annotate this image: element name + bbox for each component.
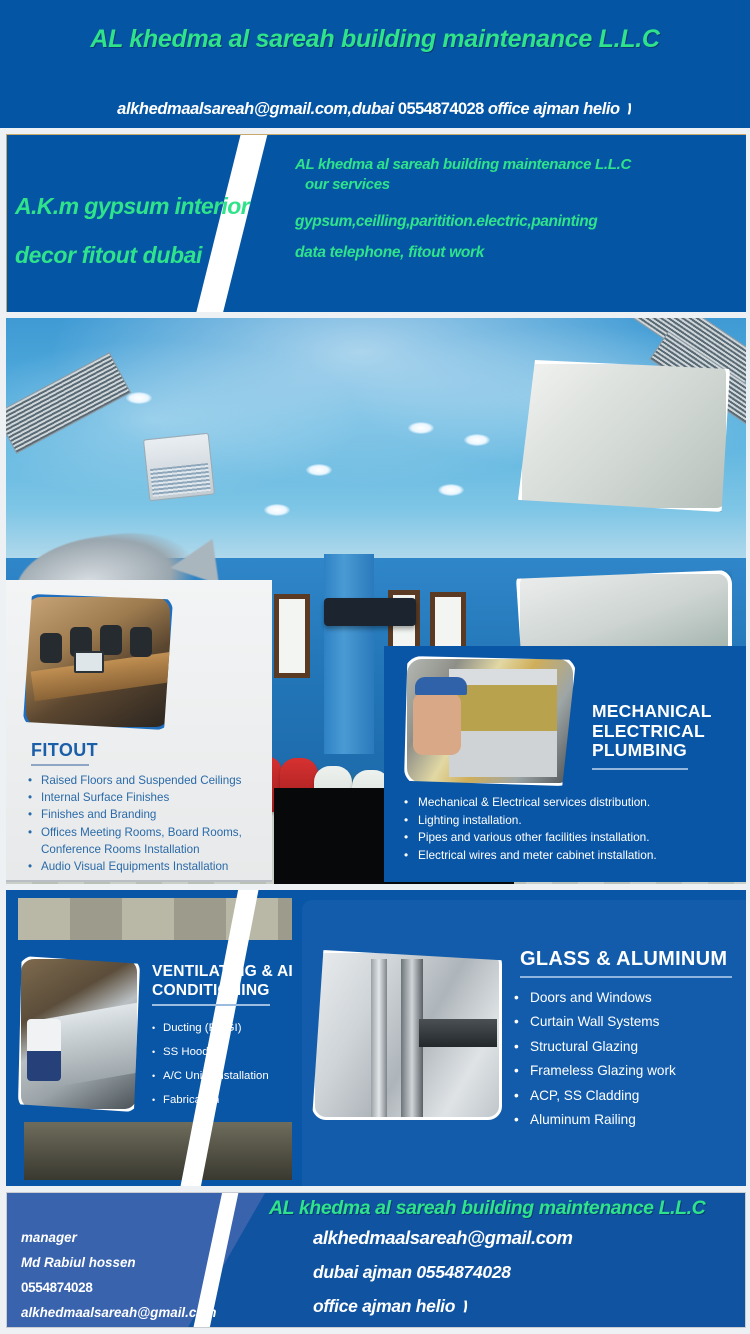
- downlight-icon: [306, 464, 332, 476]
- list-item: Lighting installation.: [404, 812, 746, 830]
- list-item: Offices Meeting Rooms, Board Rooms, Conf…: [28, 824, 272, 858]
- table-icon: [324, 598, 416, 626]
- inset-photo-lounge: [518, 360, 730, 512]
- footer-email: alkhedmaalsareah@gmail.com: [21, 1300, 283, 1325]
- curtain-wall-mullion: [371, 959, 387, 1119]
- title-underline: [152, 1004, 270, 1006]
- footer-company-title: AL khedma al sareah building maintenance…: [269, 1197, 746, 1220]
- list-item: Aluminum Railing: [514, 1108, 744, 1132]
- downlight-icon: [464, 434, 490, 446]
- duct-background-top: [18, 898, 312, 940]
- brand-line-2: decor fitout dubai: [15, 242, 277, 269]
- title-underline: [31, 764, 89, 766]
- flyer-poster: AL khedma al sareah building maintenance…: [0, 0, 750, 1334]
- list-item: Finishes and Branding: [28, 806, 272, 823]
- card-glass-aluminum: GLASS & ALUMINUM Doors and Windows Curta…: [292, 890, 746, 1186]
- list-item: SS Hood: [152, 1040, 308, 1064]
- fitout-title: FITOUT: [31, 740, 98, 761]
- technician-figure: [413, 693, 461, 755]
- laptop-icon: [74, 651, 104, 673]
- hvac-photo: [18, 956, 140, 1112]
- glass-service-list: Doors and Windows Curtain Wall Systems S…: [514, 986, 744, 1132]
- worker-figure: [27, 1019, 61, 1081]
- list-item: Pipes and various other facilities insta…: [404, 829, 746, 847]
- list-item: Curtain Wall Systems: [514, 1010, 744, 1034]
- list-item: Frameless Glazing work: [514, 1059, 744, 1083]
- footer-detail-office: office ajman helio ١: [313, 1296, 743, 1317]
- list-item: Internal Surface Finishes: [28, 789, 272, 806]
- list-item: Fabrication: [152, 1088, 308, 1112]
- title-underline: [520, 976, 732, 978]
- wall-ac-unit: [143, 433, 215, 502]
- cap-icon: [415, 677, 467, 695]
- services-brand-block: A.K.m gypsum interior decor fitout dubai: [15, 195, 277, 269]
- list-item: Audio Visual Equipments Installation: [28, 858, 272, 875]
- header-email: alkhedmaalsareah@gmail.com,dubai: [117, 100, 394, 118]
- list-item: Electrical wires and meter cabinet insta…: [404, 847, 746, 865]
- list-item: ACP, SS Cladding: [514, 1084, 744, 1108]
- footer-contact-block: manager Md Rabiul hossen 0554874028 alkh…: [21, 1225, 283, 1325]
- list-item: A/C Units Installation: [152, 1064, 308, 1088]
- header-phone: 0554874028: [398, 100, 484, 118]
- services-band: A.K.m gypsum interior decor fitout dubai…: [6, 134, 746, 312]
- title-underline: [592, 768, 688, 770]
- mep-service-list: Mechanical & Electrical services distrib…: [404, 794, 746, 864]
- services-line-4: data telephone, fitout work: [295, 244, 743, 262]
- hvac-title: VENTILATING & AIR CONDITIONING: [152, 962, 312, 1000]
- brand-line-1: A.K.m gypsum interior: [15, 195, 277, 218]
- footer-band: manager Md Rabiul hossen 0554874028 alkh…: [6, 1192, 746, 1328]
- list-item: Mechanical & Electrical services distrib…: [404, 794, 746, 812]
- header-band: AL khedma al sareah building maintenance…: [0, 0, 750, 128]
- fitout-photo: [23, 594, 173, 730]
- downlight-icon: [126, 392, 152, 404]
- list-item: Raised Floors and Suspended Ceilings: [28, 772, 272, 789]
- card-mechanical-electrical-plumbing: MECHANICAL ELECTRICAL PLUMBING Mechanica…: [384, 646, 746, 882]
- footer-role: manager: [21, 1225, 283, 1250]
- services-heading: our services: [305, 175, 743, 195]
- footer-details-block: alkhedmaalsareah@gmail.com dubai ajman 0…: [313, 1227, 743, 1317]
- header-contact-line: alkhedmaalsareah@gmail.com,dubai 0554874…: [0, 99, 750, 119]
- mep-photo: [404, 656, 576, 786]
- footer-phone: 0554874028: [21, 1275, 283, 1300]
- list-item: Structural Glazing: [514, 1035, 744, 1059]
- office-chair-icon: [40, 633, 62, 663]
- fitout-service-list: Raised Floors and Suspended Ceilings Int…: [28, 772, 272, 875]
- list-item: Doors and Windows: [514, 986, 744, 1010]
- company-title: AL khedma al sareah building maintenance…: [0, 25, 750, 54]
- glass-photo: [312, 950, 502, 1120]
- services-company: AL khedma al sareah building maintenance…: [295, 155, 743, 175]
- card-ventilating-air-conditioning: VENTILATING & AIR CONDITIONING Ducting (…: [6, 890, 312, 1186]
- aluminum-bracket: [419, 1019, 497, 1047]
- services-line-3: gypsum,ceilling,paritition.electric,pani…: [295, 213, 743, 231]
- hvac-service-list: Ducting (PI, GI) SS Hood A/C Units Insta…: [152, 1016, 308, 1112]
- footer-detail-phone: dubai ajman 0554874028: [313, 1262, 743, 1283]
- footer-name: Md Rabiul hossen: [21, 1250, 283, 1275]
- list-item: Ducting (PI, GI): [152, 1016, 308, 1040]
- glass-title: GLASS & ALUMINUM: [520, 948, 727, 971]
- card-fitout: FITOUT Raised Floors and Suspended Ceili…: [6, 580, 272, 882]
- duct-background-bottom: [24, 1122, 312, 1180]
- downlight-icon: [438, 484, 464, 496]
- mep-title: MECHANICAL ELECTRICAL PLUMBING: [592, 702, 746, 761]
- downlight-icon: [264, 504, 290, 516]
- mural-door: [274, 594, 310, 678]
- mural-pillar: [324, 554, 374, 754]
- header-office: office ajman helio ١: [488, 100, 633, 118]
- office-chair-icon: [130, 627, 152, 657]
- services-list-block: AL khedma al sareah building maintenance…: [295, 155, 743, 262]
- footer-detail-email: alkhedmaalsareah@gmail.com: [313, 1227, 743, 1249]
- downlight-icon: [408, 422, 434, 434]
